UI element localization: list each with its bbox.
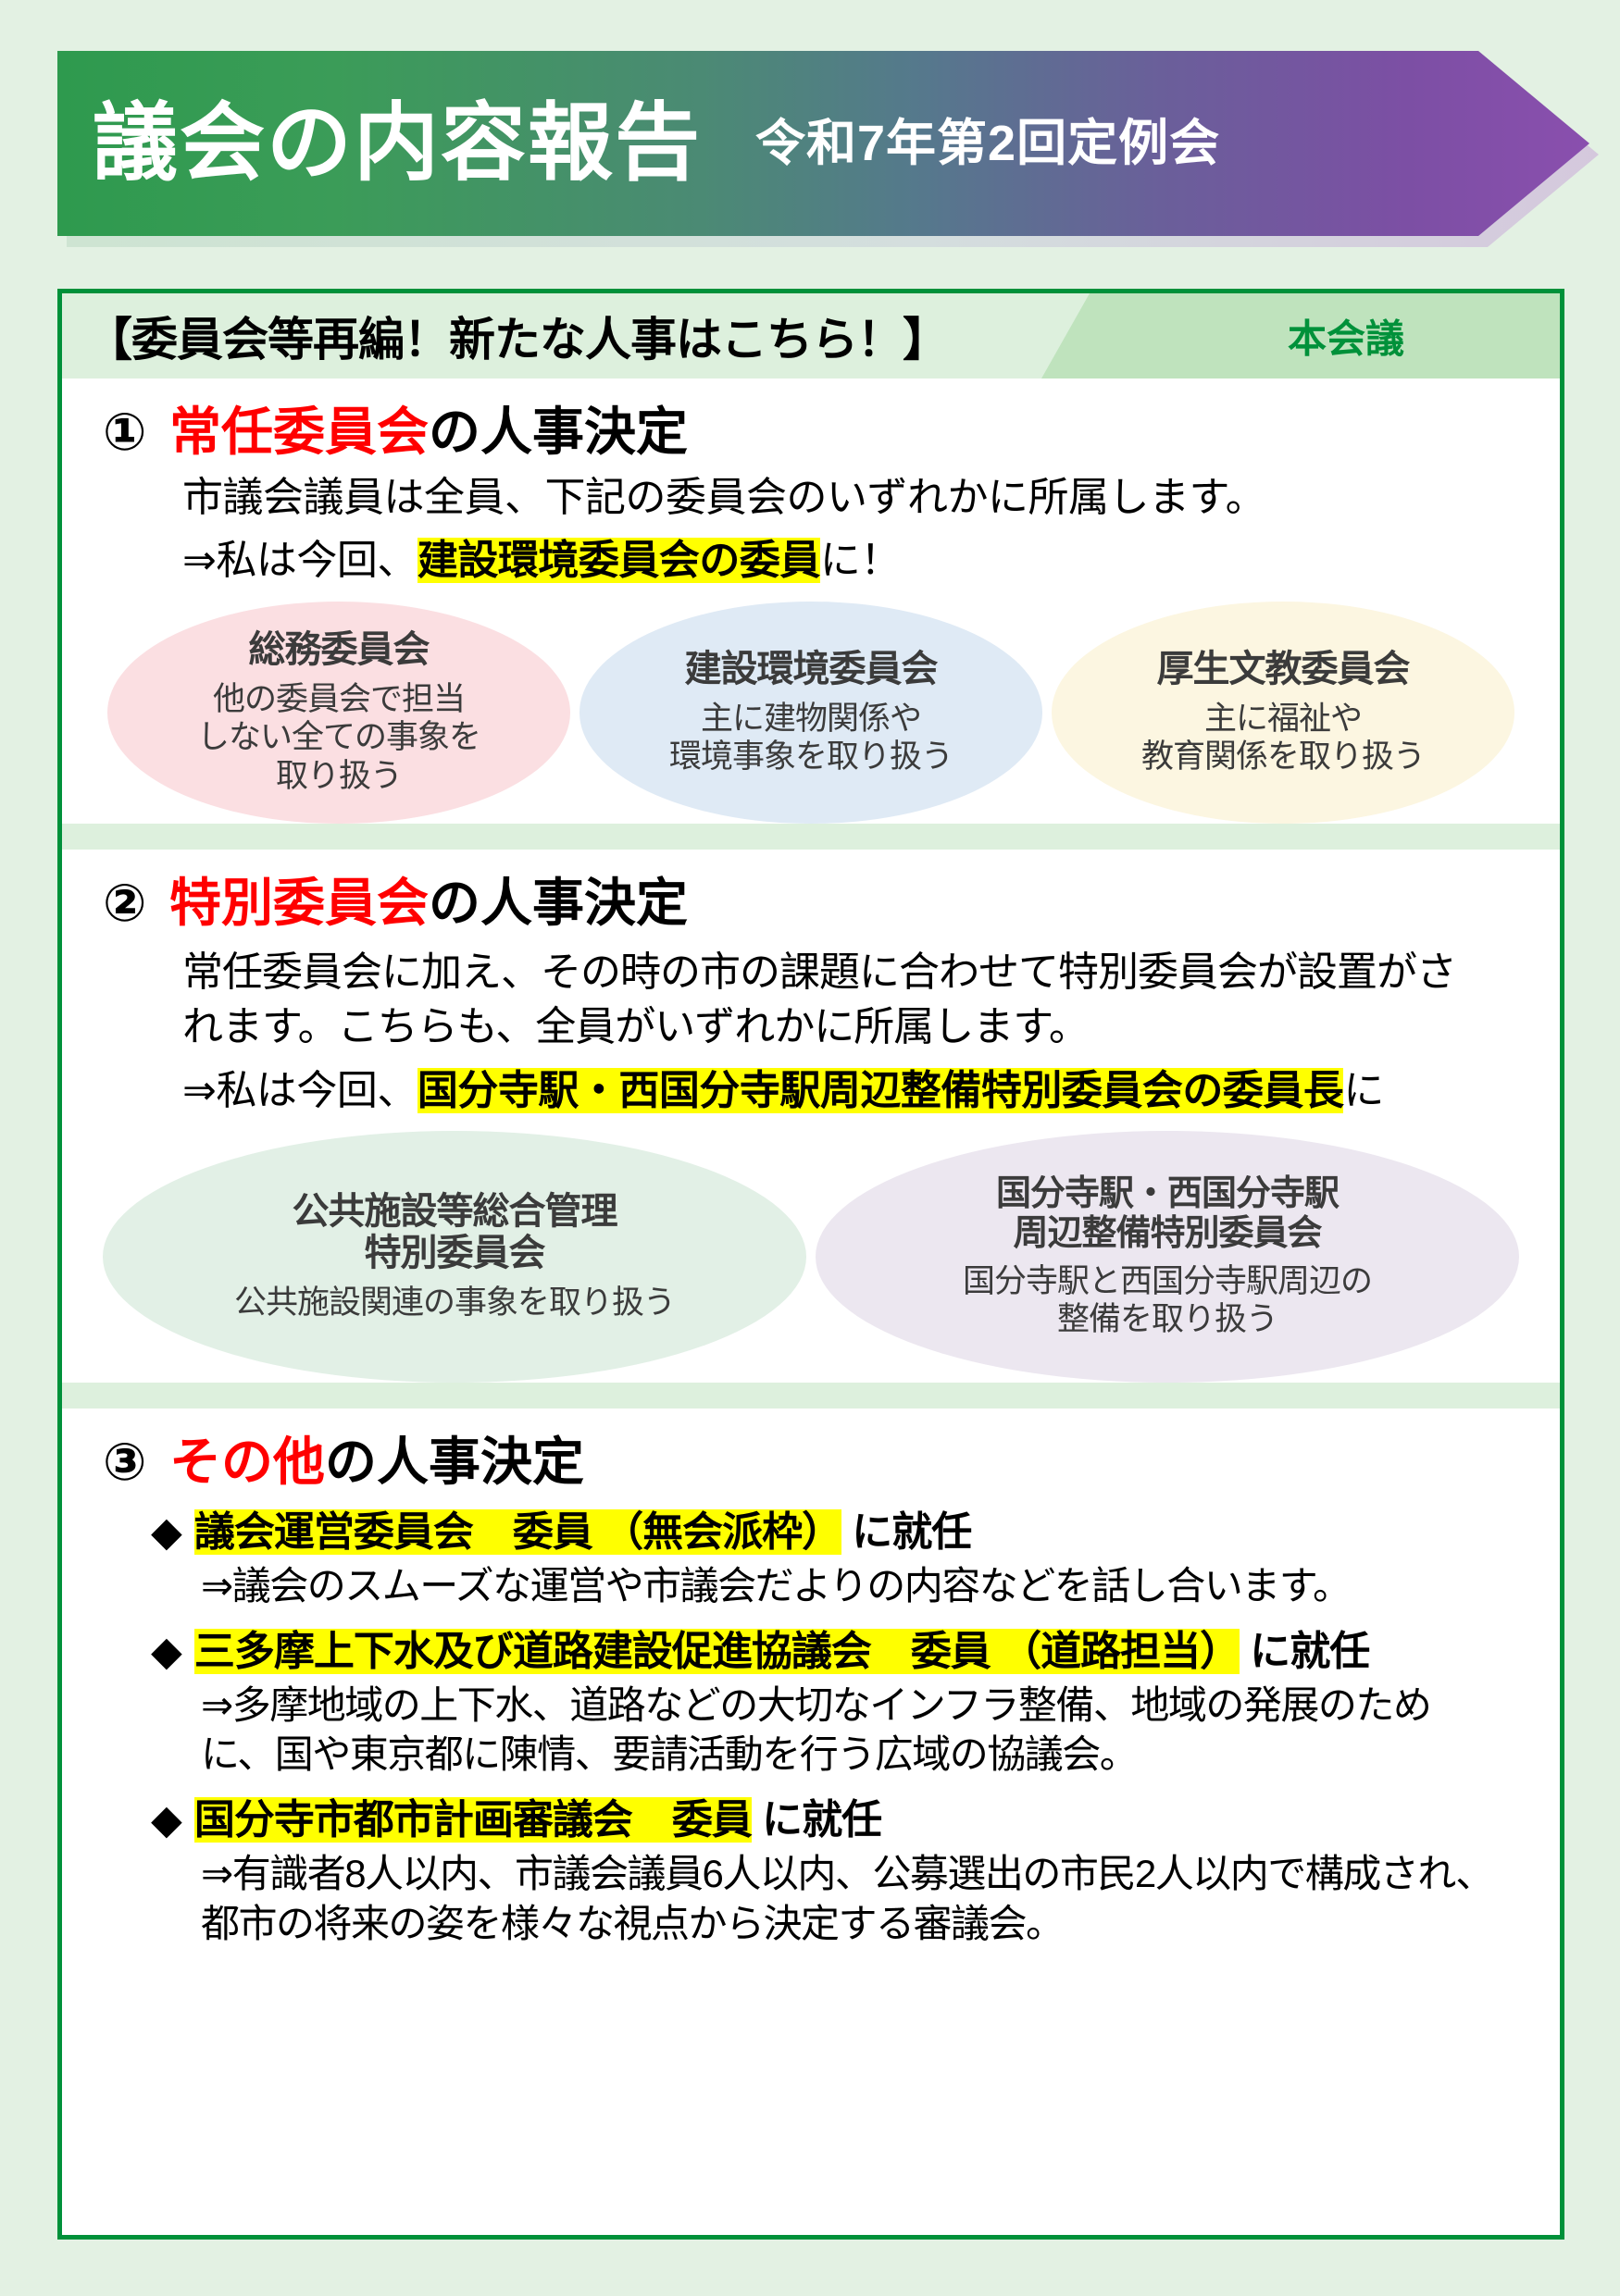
- section-1-heading-red: 常任委員会: [169, 403, 429, 461]
- content-card: 【委員会等再編！新たな人事はこちら！】 本会議 ①常任委員会の人事決定 市議会議…: [57, 289, 1564, 2240]
- section-3-heading-black: の人事決定: [325, 1433, 584, 1491]
- subheader-title: 【委員会等再編！新たな人事はこちら！】: [86, 303, 948, 369]
- section-3-heading-red: その他: [169, 1433, 325, 1491]
- page-title: 議会の内容報告: [93, 101, 702, 186]
- section-1-heading-black: の人事決定: [429, 403, 688, 461]
- committee-title: 建設環境委員会: [685, 649, 938, 690]
- appointment-suffix: に就任: [1240, 1629, 1369, 1674]
- section-2-heading: ②特別委員会の人事決定: [103, 874, 1560, 933]
- committee-desc: 公共施設関連の事象を取り扱う: [234, 1284, 675, 1322]
- committee-title: 総務委員会: [249, 629, 430, 671]
- appointment-description: ⇒議会のスムーズな運営や市議会だよりの内容などを話し合います。: [201, 1561, 1495, 1611]
- appointment-title: 三多摩上下水及び道路建設促進協議会 委員 （道路担当）: [194, 1629, 1240, 1674]
- committee-desc: 他の委員会で担当しない全ての事象を取り扱う: [197, 680, 480, 795]
- section-2-number: ②: [103, 874, 169, 933]
- section-1-line1: 市議会議員は全員、下記の委員会のいずれかに所属します。: [182, 471, 1560, 525]
- appointment-suffix: に就任: [841, 1509, 971, 1555]
- section-2-line2: ⇒私は今回、国分寺駅・西国分寺駅周辺整備特別委員会の委員長に: [182, 1064, 1560, 1118]
- appointment-bullet: ◆国分寺市都市計画審議会 委員 に就任: [151, 1796, 1560, 1845]
- section-2-line2-highlight: 国分寺駅・西国分寺駅周辺整備特別委員会の委員長: [417, 1068, 1344, 1113]
- appointment-title: 議会運営委員会 委員 （無会派枠）: [194, 1509, 841, 1555]
- appointment-suffix: に就任: [752, 1797, 881, 1843]
- section-2-paragraph: 常任委員会に加え、その時の市の課題に合わせて特別委員会が設置がされます。こちらも…: [182, 946, 1486, 1055]
- section-1-line2-highlight: 建設環境委員会の委員: [417, 538, 820, 583]
- diamond-bullet-icon: ◆: [151, 1797, 181, 1843]
- section-2-heading-red: 特別委員会: [169, 874, 429, 932]
- section-1-heading: ①常任委員会の人事決定: [103, 403, 1560, 462]
- subheader-band: 【委員会等再編！新たな人事はこちら！】 本会議: [62, 293, 1560, 379]
- committee-title: 国分寺駅・西国分寺駅周辺整備特別委員会: [996, 1174, 1339, 1253]
- committee-title: 公共施設等総合管理特別委員会: [293, 1191, 617, 1274]
- section-2-line2-prefix: ⇒私は今回、: [182, 1068, 417, 1113]
- section-2-heading-black: の人事決定: [429, 874, 688, 932]
- appointment-description: ⇒多摩地域の上下水、道路などの大切なインフラ整備、地域の発展のために、国や東京都…: [201, 1681, 1495, 1781]
- section-1-line2: ⇒私は今回、建設環境委員会の委員に！: [182, 534, 1560, 588]
- section-other-appointments: ③その他の人事決定 ◆議会運営委員会 委員 （無会派枠） に就任 ⇒議会のスムー…: [62, 1433, 1560, 1949]
- committee-ellipse-general-affairs: 総務委員会 他の委員会で担当しない全ての事象を取り扱う: [107, 602, 570, 824]
- committee-ellipse-construction-environment: 建設環境委員会 主に建物関係や環境事象を取り扱う: [579, 602, 1042, 824]
- status-badge: 本会議: [1288, 308, 1404, 365]
- committee-ellipse-public-facilities: 公共施設等総合管理特別委員会 公共施設関連の事象を取り扱う: [103, 1131, 806, 1383]
- appointment-title: 国分寺市都市計画審議会 委員: [194, 1797, 752, 1843]
- appointment-bullet: ◆三多摩上下水及び道路建設促進協議会 委員 （道路担当） に就任: [151, 1628, 1560, 1677]
- section-1-line2-prefix: ⇒私は今回、: [182, 538, 417, 583]
- section-1-line2-suffix: に！: [820, 538, 901, 583]
- header-banner: 議会の内容報告 令和7年第2回定例会: [57, 51, 1599, 245]
- committee-ellipse-station-area: 国分寺駅・西国分寺駅周辺整備特別委員会 国分寺駅と西国分寺駅周辺の整備を取り扱う: [816, 1131, 1519, 1383]
- session-label: 令和7年第2回定例会: [755, 118, 1220, 168]
- committee-desc: 国分寺駅と西国分寺駅周辺の整備を取り扱う: [963, 1262, 1372, 1339]
- committee-desc: 主に福祉や教育関係を取り扱う: [1141, 700, 1425, 776]
- section-1-ellipse-row: 総務委員会 他の委員会で担当しない全ての事象を取り扱う 建設環境委員会 主に建物…: [62, 602, 1560, 824]
- section-separator: [62, 824, 1560, 850]
- section-special-committee: ②特別委員会の人事決定 常任委員会に加え、その時の市の課題に合わせて特別委員会が…: [62, 874, 1560, 1383]
- section-2-ellipse-row: 公共施設等総合管理特別委員会 公共施設関連の事象を取り扱う 国分寺駅・西国分寺駅…: [62, 1131, 1560, 1383]
- committee-desc: 主に建物関係や環境事象を取り扱う: [669, 700, 953, 776]
- committee-ellipse-welfare-education: 厚生文教委員会 主に福祉や教育関係を取り扱う: [1052, 602, 1514, 824]
- section-3-number: ③: [103, 1433, 169, 1492]
- appointment-description: ⇒有識者8人以内、市議会議員6人以内、公募選出の市民2人以内で構成され、都市の将…: [201, 1849, 1495, 1949]
- diamond-bullet-icon: ◆: [151, 1629, 181, 1674]
- section-standing-committee: ①常任委員会の人事決定 市議会議員は全員、下記の委員会のいずれかに所属します。 …: [62, 403, 1560, 824]
- diamond-bullet-icon: ◆: [151, 1509, 181, 1555]
- committee-title: 厚生文教委員会: [1157, 649, 1410, 690]
- section-2-line2-suffix: に: [1343, 1068, 1384, 1113]
- section-separator: [62, 1383, 1560, 1409]
- appointment-bullet: ◆議会運営委員会 委員 （無会派枠） に就任: [151, 1508, 1560, 1558]
- section-3-heading: ③その他の人事決定: [103, 1433, 1560, 1492]
- section-1-number: ①: [103, 403, 169, 462]
- header-banner-chevron: 議会の内容報告 令和7年第2回定例会: [57, 51, 1589, 236]
